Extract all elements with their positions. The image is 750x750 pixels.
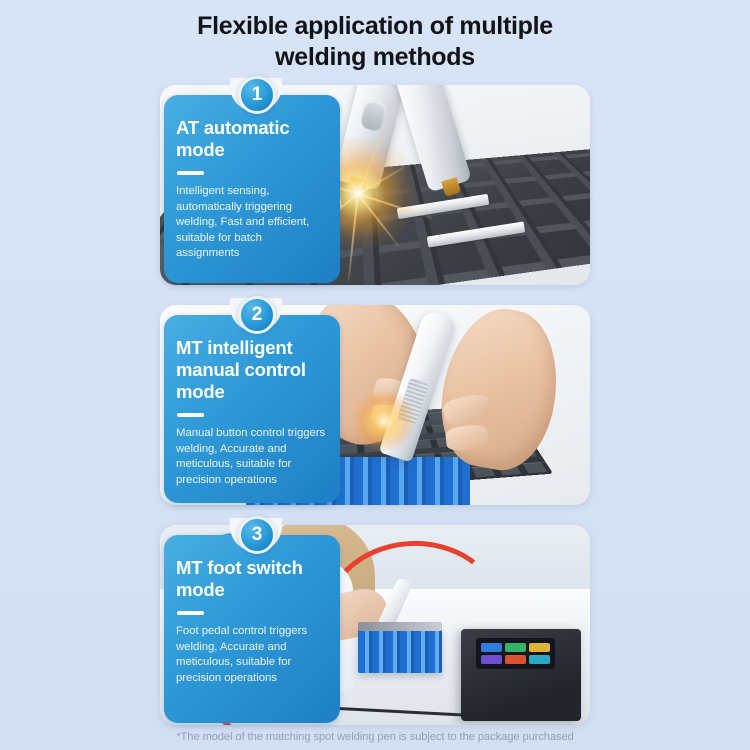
display-key — [481, 655, 502, 664]
step-number-label: 1 — [252, 85, 263, 104]
heading-divider — [177, 413, 204, 417]
step-number-badge: 1 — [238, 76, 276, 114]
footer-disclaimer: *The model of the matching spot welding … — [0, 731, 750, 743]
card-body-text: Manual button control triggers welding, … — [176, 426, 326, 488]
pen-button — [360, 99, 387, 132]
step-number-label: 2 — [252, 305, 263, 324]
display-key — [529, 643, 550, 652]
step-number-badge: 3 — [238, 516, 276, 554]
card-info-panel: MT foot switch mode Foot pedal control t… — [164, 535, 340, 723]
finger — [445, 424, 489, 452]
welding-mode-card[interactable]: AT automatic mode Intelligent sensing, a… — [160, 85, 590, 285]
heading-divider — [177, 611, 204, 615]
page-title-line-2: welding methods — [0, 42, 750, 73]
finger — [442, 392, 492, 427]
welding-mode-card[interactable]: MT foot switch mode Foot pedal control t… — [160, 525, 590, 725]
heading-divider — [177, 171, 204, 175]
card-info-panel: MT intelligent manual control mode Manua… — [164, 315, 340, 503]
card-body-text: Intelligent sensing, automatically trigg… — [176, 184, 326, 262]
card-heading: AT automatic mode — [176, 117, 326, 161]
machine-display — [476, 638, 555, 669]
weld-flash — [349, 391, 419, 451]
welding-mode-card[interactable]: MT intelligent manual control mode Manua… — [160, 305, 590, 505]
spot-welding-machine — [461, 629, 581, 721]
step-number-badge: 2 — [238, 296, 276, 334]
card-info-panel: AT automatic mode Intelligent sensing, a… — [164, 95, 340, 283]
display-key — [529, 655, 550, 664]
display-key — [505, 655, 526, 664]
display-key — [481, 643, 502, 652]
display-key — [505, 643, 526, 652]
card-heading: MT intelligent manual control mode — [176, 337, 326, 403]
welding-mode-card-list: AT automatic mode Intelligent sensing, a… — [160, 85, 590, 745]
card-heading: MT foot switch mode — [176, 557, 326, 601]
page-title-line-1: Flexible application of multiple — [0, 11, 750, 42]
page-title: Flexible application of multiple welding… — [0, 0, 750, 72]
step-number-label: 3 — [252, 525, 263, 544]
card-body-text: Foot pedal control triggers welding, Acc… — [176, 624, 326, 686]
